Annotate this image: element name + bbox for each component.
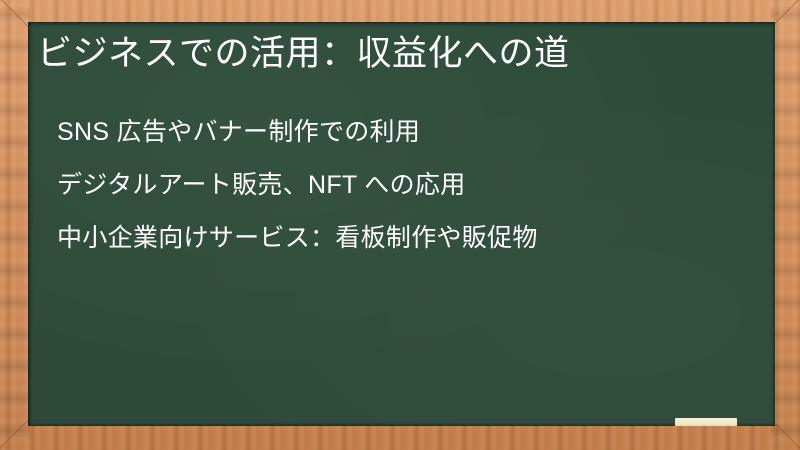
- frame-grain-left: [0, 0, 30, 450]
- chalkboard-slide: ビジネスでの活用：収益化への道 SNS 広告やバナー制作での利用 デジタルアート…: [0, 0, 800, 450]
- chalkboard-surface: ビジネスでの活用：収益化への道 SNS 広告やバナー制作での利用 デジタルアート…: [28, 22, 775, 426]
- chalk-stick: [675, 418, 737, 426]
- bullet-item-1: SNS 広告やバナー制作での利用: [57, 106, 757, 159]
- slide-title: ビジネスでの活用：収益化への道: [37, 32, 767, 76]
- bullet-item-2: デジタルアート販売、NFT への応用: [57, 159, 757, 212]
- bullet-item-3: 中小企業向けサービス：看板制作や販促物: [57, 212, 757, 265]
- slide-bullet-list: SNS 広告やバナー制作での利用 デジタルアート販売、NFT への応用 中小企業…: [57, 106, 757, 265]
